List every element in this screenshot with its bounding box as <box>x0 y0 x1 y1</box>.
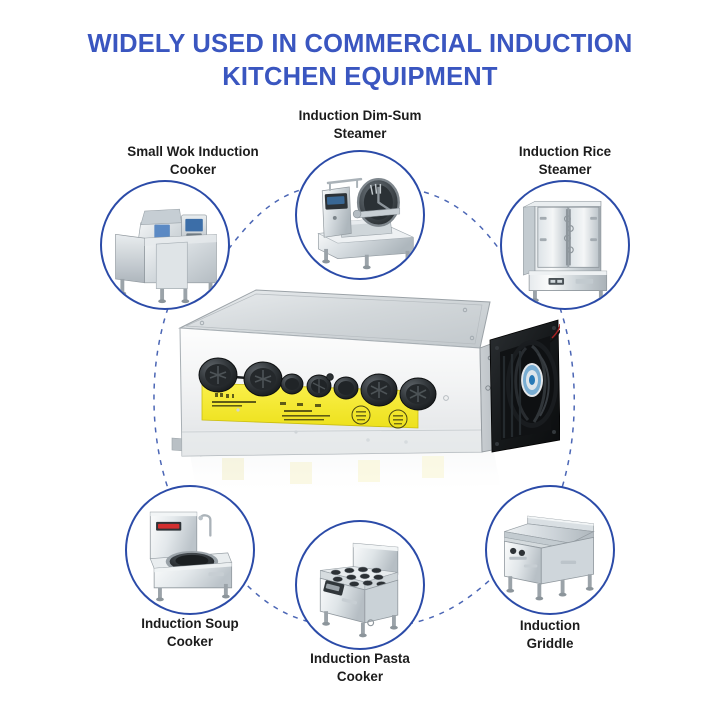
label-small-wok-induction-cooker: Small Wok Induction Cooker <box>93 143 293 178</box>
label-induction-pasta-cooker: Induction Pasta Cooker <box>260 650 460 685</box>
label-induction-soup-cooker: Induction Soup Cooker <box>90 615 290 650</box>
label-induction-griddle: Induction Griddle <box>450 617 650 652</box>
arc-wok-to-dimsum <box>222 190 300 258</box>
product-circle-induction-dim-sum-steamer[interactable] <box>295 150 425 280</box>
label-induction-rice-steamer: Induction Rice Steamer <box>465 143 665 178</box>
arc-dimsum-to-rice <box>424 192 504 256</box>
label-induction-dim-sum-steamer: Induction Dim-Sum Steamer <box>260 107 460 142</box>
page-title: WIDELY USED IN COMMERCIAL INDUCTION KITC… <box>0 28 720 94</box>
page-title-line-1: WIDELY USED IN COMMERCIAL INDUCTION <box>88 30 633 58</box>
infographic-canvas: WIDELY USED IN COMMERCIAL INDUCTION KITC… <box>0 0 720 720</box>
product-image-induction-pasta-cooker <box>297 522 423 648</box>
product-circle-induction-pasta-cooker[interactable] <box>295 520 425 650</box>
arc-rice-to-griddle <box>560 308 574 494</box>
page-title-line-2: KITCHEN EQUIPMENT <box>0 61 720 94</box>
product-image-induction-dim-sum-steamer <box>297 152 423 278</box>
central-product-induction-power-module[interactable] <box>160 280 560 510</box>
